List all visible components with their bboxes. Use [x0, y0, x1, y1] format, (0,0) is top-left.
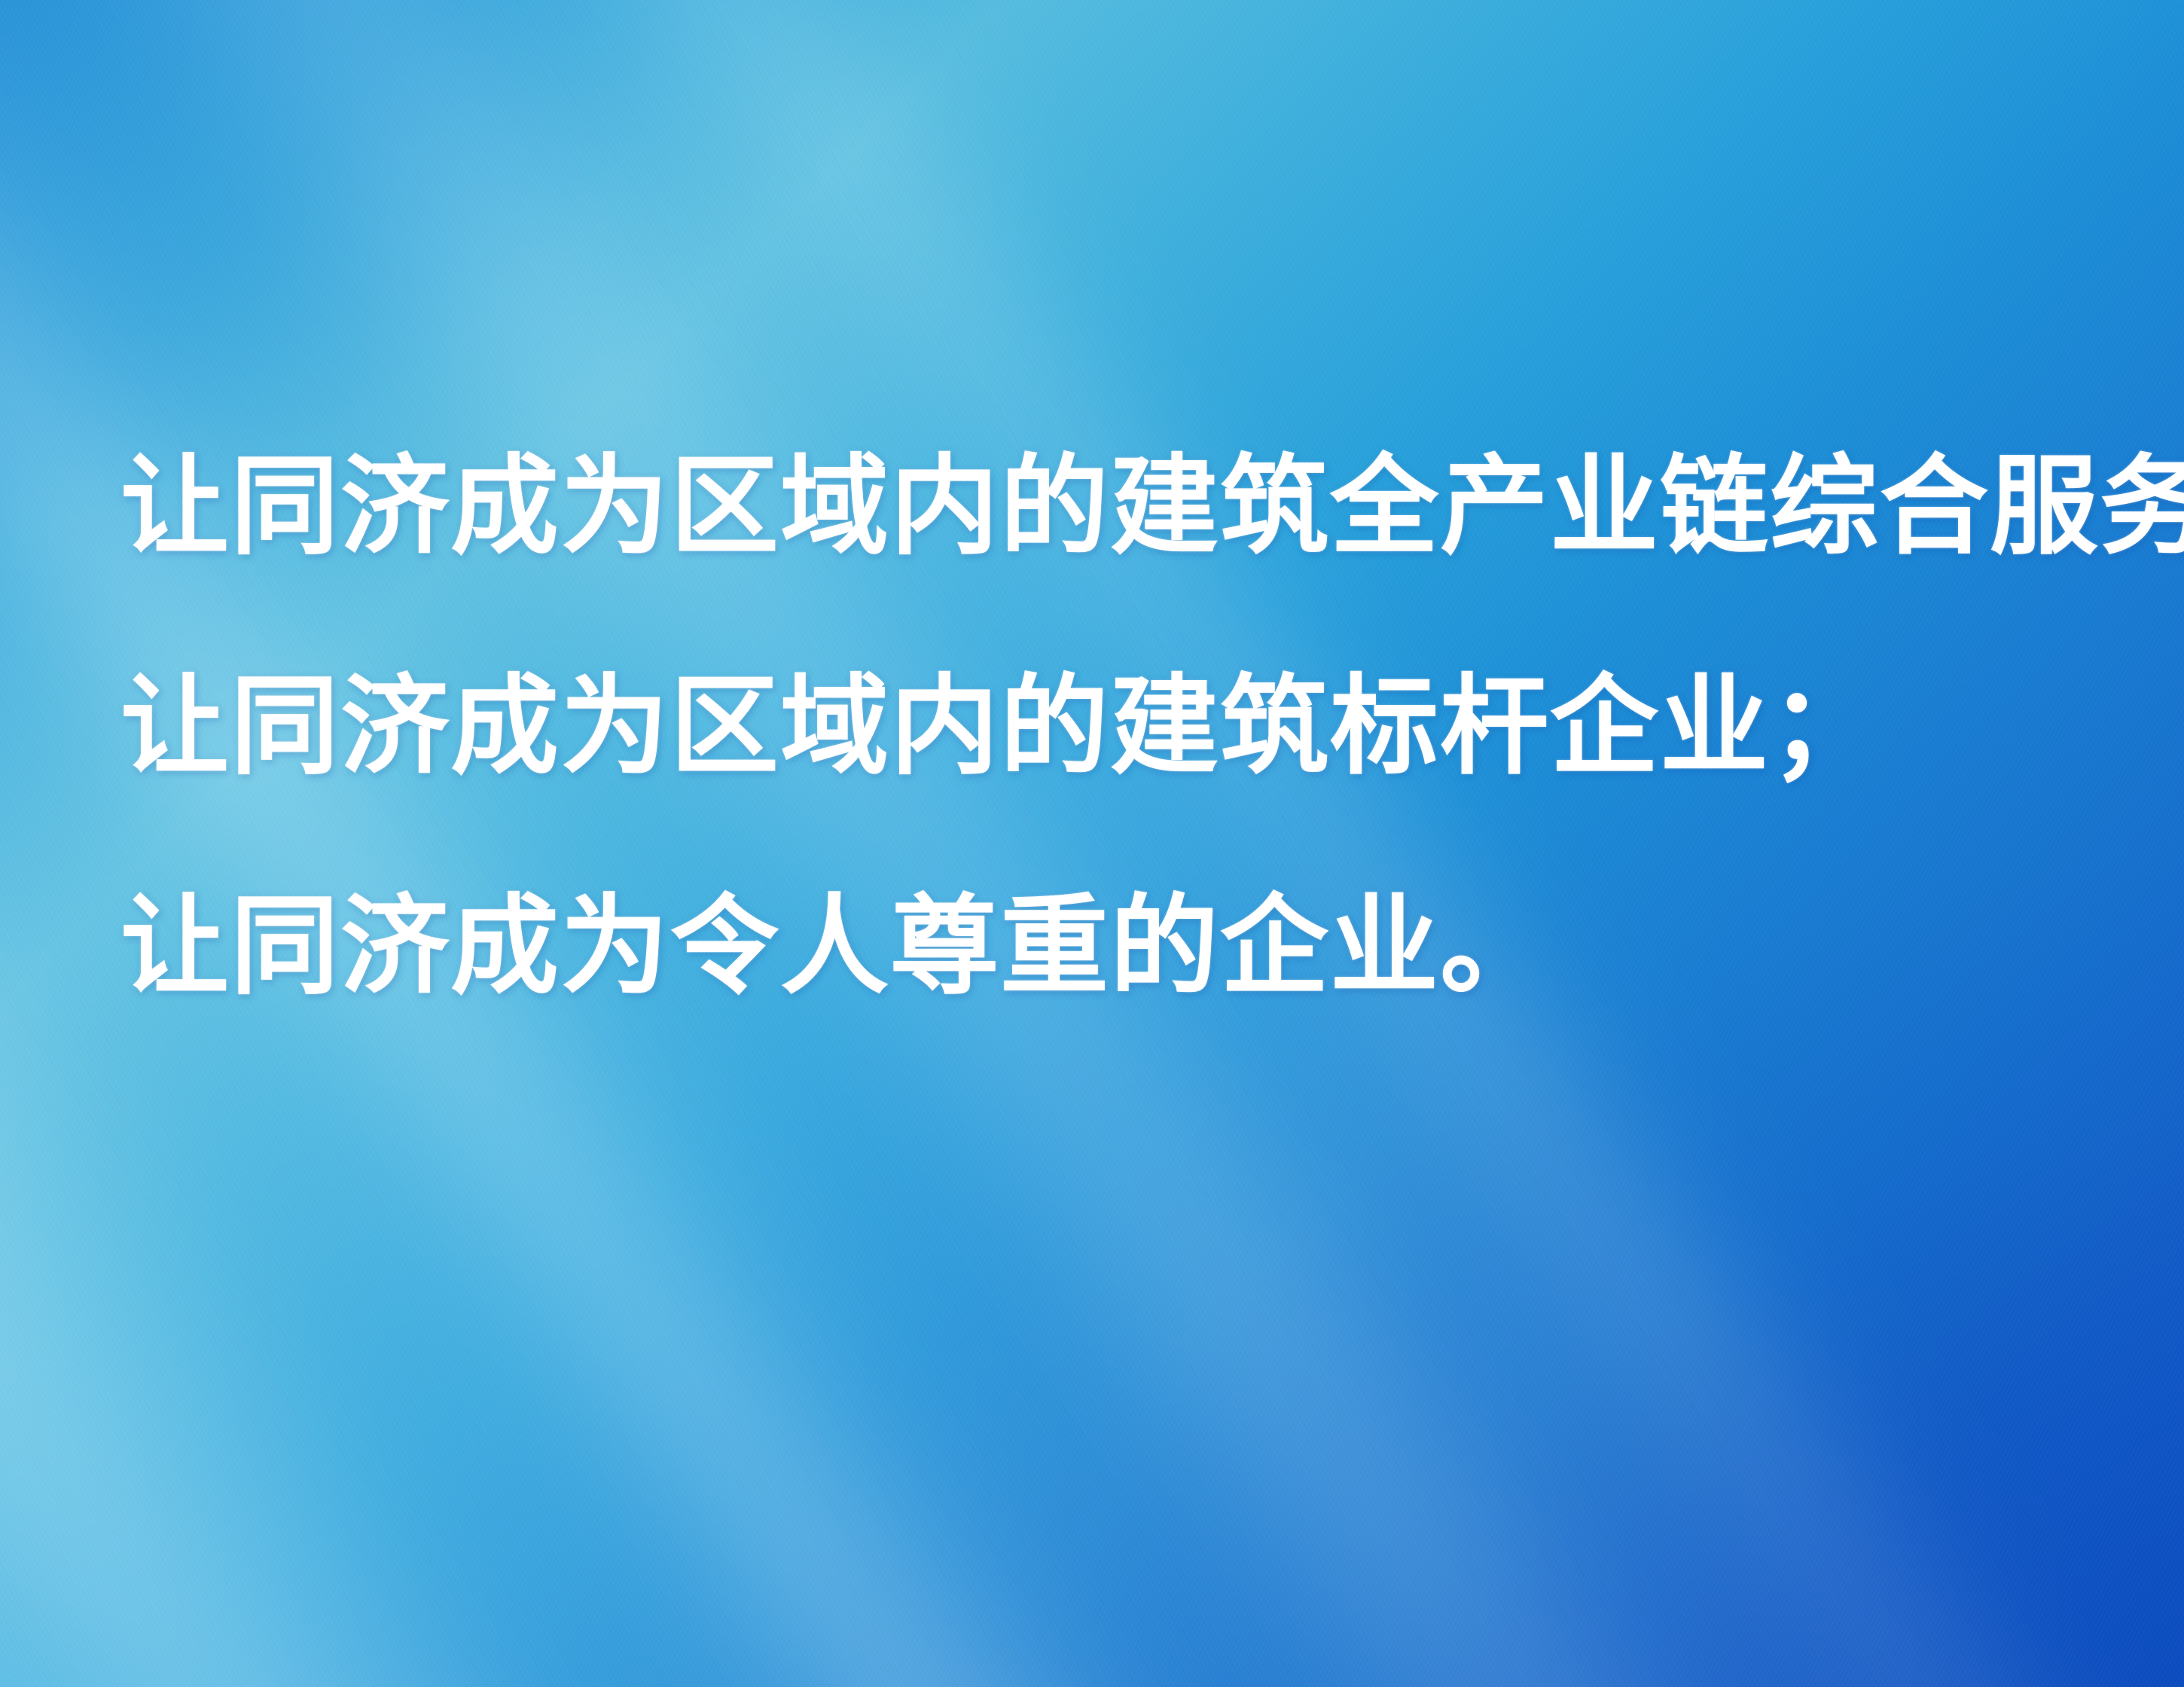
slide-line-2: 让同济成为区域内的建筑标杆企业；	[120, 672, 2109, 780]
slide-text-block: 让同济成为区域内的建筑全产业链综合服务商； 让同济成为区域内的建筑标杆企业； 让…	[120, 452, 2109, 1000]
slide-line-1: 让同济成为区域内的建筑全产业链综合服务商；	[120, 452, 2109, 560]
presentation-slide: 让同济成为区域内的建筑全产业链综合服务商； 让同济成为区域内的建筑标杆企业； 让…	[0, 0, 2184, 1687]
slide-line-3: 让同济成为令人尊重的企业。	[120, 892, 2109, 1000]
